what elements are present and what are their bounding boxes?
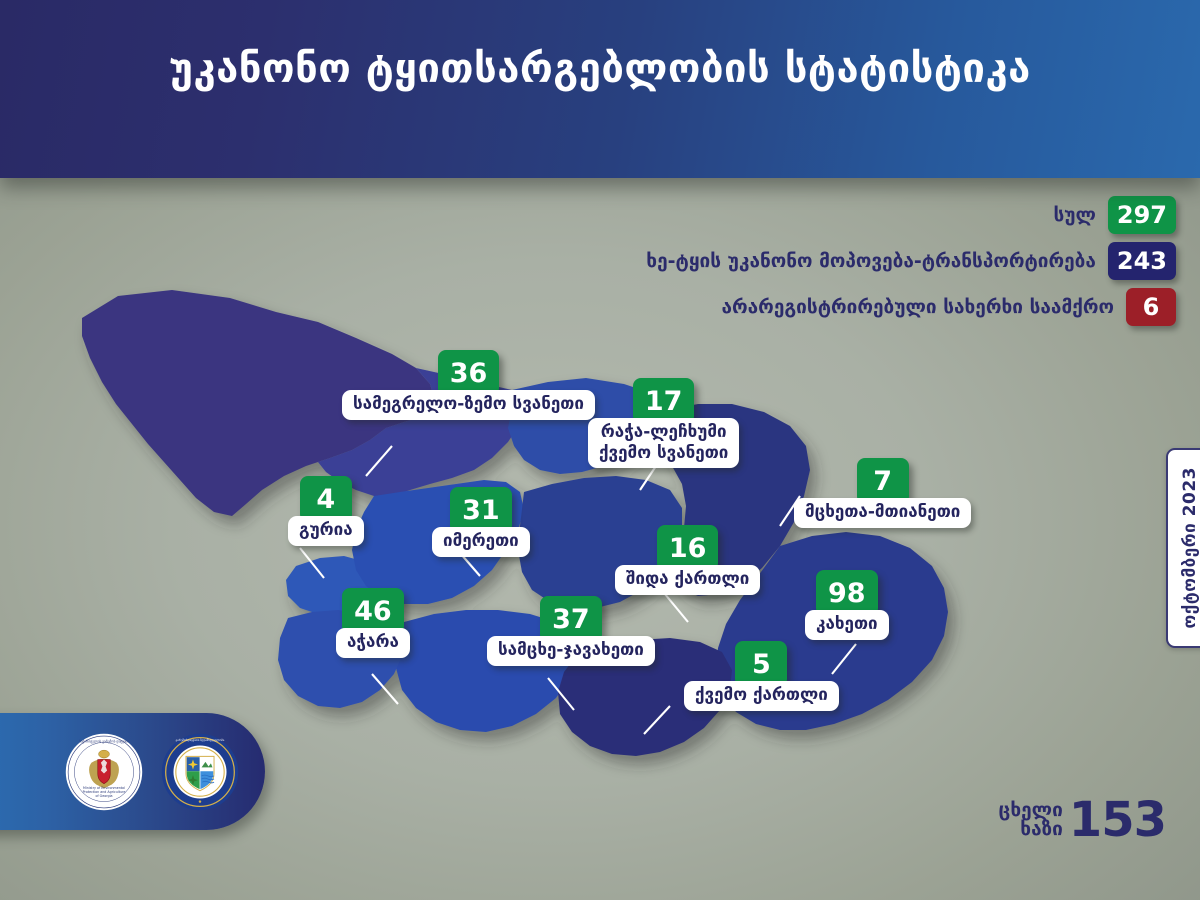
date-tab-label: ოქტომბერი 2023: [1180, 467, 1200, 629]
legend-label-total: სულ: [1053, 204, 1095, 226]
legend-badge-total: 297: [1108, 196, 1176, 234]
ministry-emblem-icon: Ministry of Environmental Protection and…: [65, 733, 143, 811]
infographic-canvas: უკანონო ტყითსარგებლობის სტატისტიკა: [0, 0, 1200, 900]
legend-badge-logging: 243: [1108, 242, 1176, 280]
legend-row-sawmill: არარეგისტრირებული სახერხი საამქრო 6: [722, 288, 1177, 326]
marker-kakheti: 98 კახეთი: [805, 570, 889, 640]
marker-label-samegrelo: სამეგრელო-ზემო სვანეთი: [342, 390, 595, 420]
legend-row-total: სულ 297: [1053, 196, 1176, 234]
page-title: უკანონო ტყითსარგებლობის სტატისტიკა: [0, 46, 1200, 92]
marker-samegrelo-zemo-svaneti: 36 სამეგრელო-ზემო სვანეთი: [342, 350, 595, 420]
legend-badge-sawmill: 6: [1126, 288, 1176, 326]
svg-text:საქართველოს გარემოს დაცვისა: საქართველოს გარემოს დაცვისა: [79, 739, 129, 743]
marker-racha-lechkhumi: 17 რაჭა-ლეჩხუმი ქვემო სვანეთი: [588, 378, 739, 468]
marker-label-mtskheta: მცხეთა-მთიანეთი: [794, 498, 971, 528]
marker-adjara: 46 აჭარა: [336, 588, 410, 658]
legend-label-logging: ხე-ტყის უკანონო მოპოვება-ტრანსპორტირება: [646, 250, 1096, 272]
svg-text:of Georgia: of Georgia: [96, 793, 113, 797]
marker-label-adjara: აჭარა: [336, 628, 410, 658]
ministry-emblem-svg: Ministry of Environmental Protection and…: [65, 733, 143, 811]
hotline-word-2: ხაზი: [999, 820, 1063, 839]
marker-label-imereti: იმერეთი: [432, 527, 530, 557]
marker-label-samtskhe: სამცხე-ჯავახეთი: [487, 636, 655, 666]
marker-guria: 4 გურია: [288, 476, 364, 546]
hotline-words: ცხელი ხაზი: [999, 801, 1063, 840]
legend-label-sawmill: არარეგისტრირებული სახერხი საამქრო: [722, 296, 1115, 318]
marker-samtskhe-javakheti: 37 სამცხე-ჯავახეთი: [487, 596, 655, 666]
svg-text:გარემოსდაცვითი ზედამხედველობა: გარემოსდაცვითი ზედამხედველობა: [176, 737, 225, 741]
supervision-emblem-svg: გარემოსდაცვითი ზედამხედველობა: [161, 733, 239, 811]
marker-label-guria: გურია: [288, 516, 364, 546]
marker-imereti: 31 იმერეთი: [432, 487, 530, 557]
marker-label-shida-kartli: შიდა ქართლი: [615, 565, 760, 595]
date-tab: ოქტომბერი 2023: [1166, 448, 1200, 648]
hotline-number: 153: [1069, 798, 1166, 842]
marker-label-kvemo-kartli: ქვემო ქართლი: [684, 681, 839, 711]
supervision-department-emblem-icon: გარემოსდაცვითი ზედამხედველობა: [161, 733, 239, 811]
marker-shida-kartli: 16 შიდა ქართლი: [615, 525, 760, 595]
legend: სულ 297 ხე-ტყის უკანონო მოპოვება-ტრანსპო…: [646, 196, 1176, 326]
header-bar: უკანონო ტყითსარგებლობის სტატისტიკა: [0, 0, 1200, 178]
marker-label-racha: რაჭა-ლეჩხუმი ქვემო სვანეთი: [588, 418, 739, 468]
hotline: ცხელი ხაზი 153: [999, 798, 1166, 842]
marker-kvemo-kartli: 5 ქვემო ქართლი: [684, 641, 839, 711]
legend-row-logging: ხე-ტყის უკანონო მოპოვება-ტრანსპორტირება …: [646, 242, 1176, 280]
marker-label-kakheti: კახეთი: [805, 610, 889, 640]
logo-bar: Ministry of Environmental Protection and…: [0, 713, 265, 830]
marker-mtskheta-mtianeti: 7 მცხეთა-მთიანეთი: [794, 458, 971, 528]
